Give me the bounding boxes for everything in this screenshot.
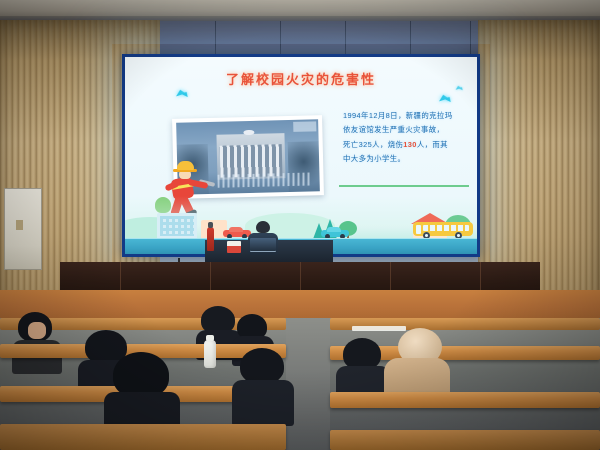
projection-screen: 了解校园火灾的危害性 1994年12月8日，新疆的克拉玛 依友谊馆发生严重火灾事… xyxy=(122,54,480,257)
slide-body-line-2: 依友谊馆发生严重火灾事故， xyxy=(343,123,468,137)
building-block xyxy=(157,213,197,239)
student xyxy=(336,338,388,392)
bench xyxy=(0,424,286,450)
wall-cabinet xyxy=(4,188,42,270)
presentation-slide: 了解校园火灾的危害性 1994年12月8日，新疆的克拉玛 依友谊馆发生严重火灾事… xyxy=(125,57,477,254)
water-bottle xyxy=(204,340,216,368)
notebook xyxy=(352,326,406,331)
first-aid-box xyxy=(227,241,241,253)
student xyxy=(104,352,178,426)
slide-body-line-3: 死亡325人，烧伤130人，而其 xyxy=(343,138,468,152)
slide-divider xyxy=(339,185,469,187)
school-bus-icon xyxy=(413,221,473,239)
cabinet-latch xyxy=(16,220,23,230)
slide-body-line-4: 中大多为小学生。 xyxy=(343,152,468,166)
slide-title: 了解校园火灾的危害性 xyxy=(125,69,477,88)
bench xyxy=(330,430,600,450)
fire-extinguisher-icon xyxy=(207,227,214,251)
bench xyxy=(330,392,600,408)
slide-body-text: 1994年12月8日，新疆的克拉玛 依友谊馆发生严重火灾事故， 死亡325人，烧… xyxy=(343,109,468,167)
lecture-hall-photo: 了解校园火灾的危害性 1994年12月8日，新疆的克拉玛 依友谊馆发生严重火灾事… xyxy=(0,0,600,450)
laptop xyxy=(250,238,276,251)
student xyxy=(232,348,292,410)
slide-body-line-1: 1994年12月8日，新疆的克拉玛 xyxy=(343,109,468,123)
